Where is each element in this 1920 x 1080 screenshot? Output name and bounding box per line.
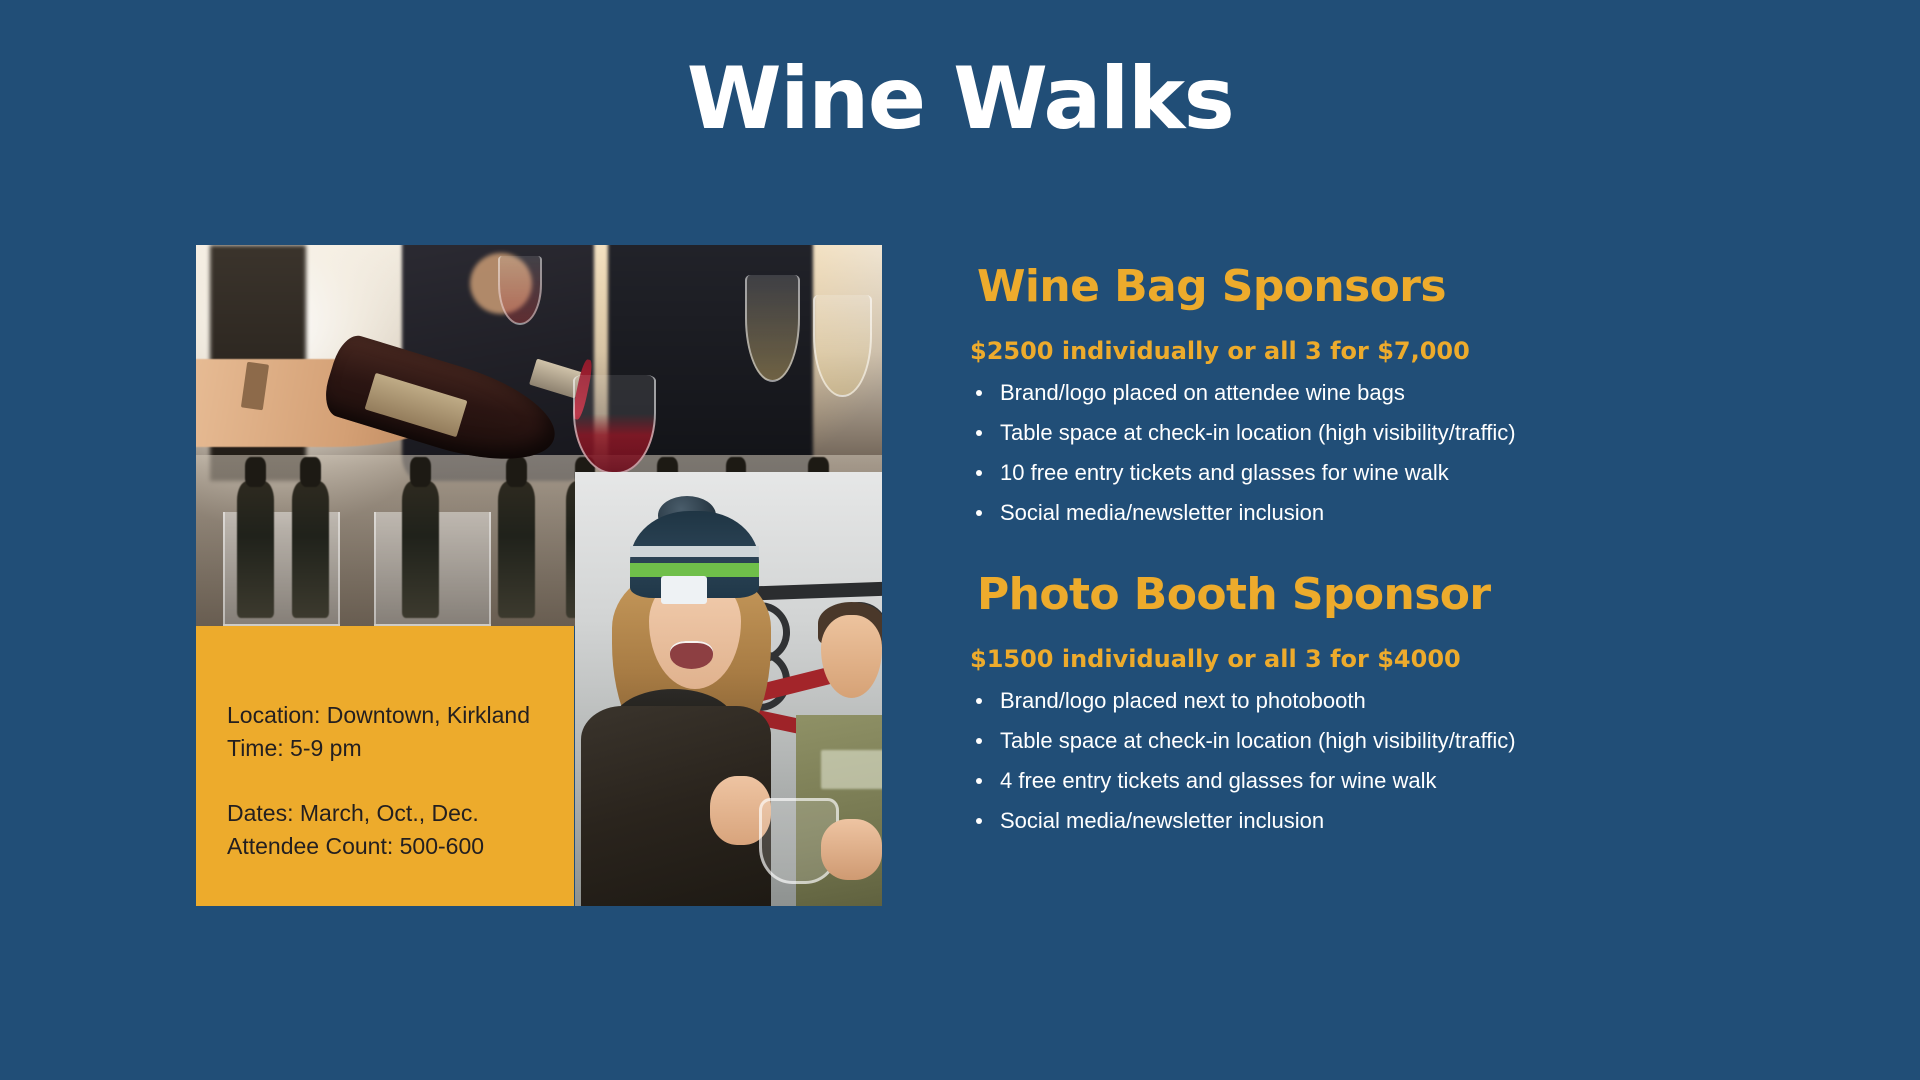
list-item: Table space at check-in location (high v… (960, 725, 1660, 757)
section-heading: Wine Bag Sponsors (977, 262, 1660, 311)
beanie-team-logo (661, 576, 707, 604)
page-title: Wine Walks (0, 52, 1920, 147)
list-item: 4 free entry tickets and glasses for win… (960, 765, 1660, 797)
list-item: Brand/logo placed next to photobooth (960, 685, 1660, 717)
bottle-2 (292, 481, 329, 618)
list-item: Social media/newsletter inclusion (960, 805, 1660, 837)
man-hand (821, 819, 882, 880)
benefits-list: Brand/logo placed on attendee wine bags … (960, 377, 1660, 529)
beanie-stripe-light (630, 546, 759, 557)
image-collage: Location: Downtown, Kirkland Time: 5-9 p… (196, 245, 882, 906)
sponsor-tiers: Wine Bag Sponsors $2500 individually or … (960, 262, 1660, 845)
list-item: 10 free entry tickets and glasses for wi… (960, 457, 1660, 489)
list-item: Social media/newsletter inclusion (960, 497, 1660, 529)
section-heading: Photo Booth Sponsor (977, 570, 1660, 619)
section-spacer (960, 537, 1660, 570)
event-info-box: Location: Downtown, Kirkland Time: 5-9 p… (196, 626, 574, 906)
sponsor-section-wine-bag: Wine Bag Sponsors $2500 individually or … (960, 262, 1660, 529)
bottle-3 (402, 481, 439, 618)
section-price: $1500 individually or all 3 for $4000 (970, 645, 1660, 673)
bottle-1 (237, 481, 274, 618)
man-shirt-print (821, 750, 882, 789)
list-item: Brand/logo placed on attendee wine bags (960, 377, 1660, 409)
beanie-stripe-green (630, 563, 759, 577)
bottle-4 (498, 481, 535, 618)
section-price: $2500 individually or all 3 for $7,000 (970, 337, 1660, 365)
attendees-photo (575, 472, 882, 906)
benefits-list: Brand/logo placed next to photobooth Tab… (960, 685, 1660, 837)
list-item: Table space at check-in location (high v… (960, 417, 1660, 449)
slide-canvas: Wine Walks (0, 0, 1920, 1080)
sponsor-section-photo-booth: Photo Booth Sponsor $1500 individually o… (960, 570, 1660, 837)
event-info-text: Location: Downtown, Kirkland Time: 5-9 p… (227, 699, 530, 862)
